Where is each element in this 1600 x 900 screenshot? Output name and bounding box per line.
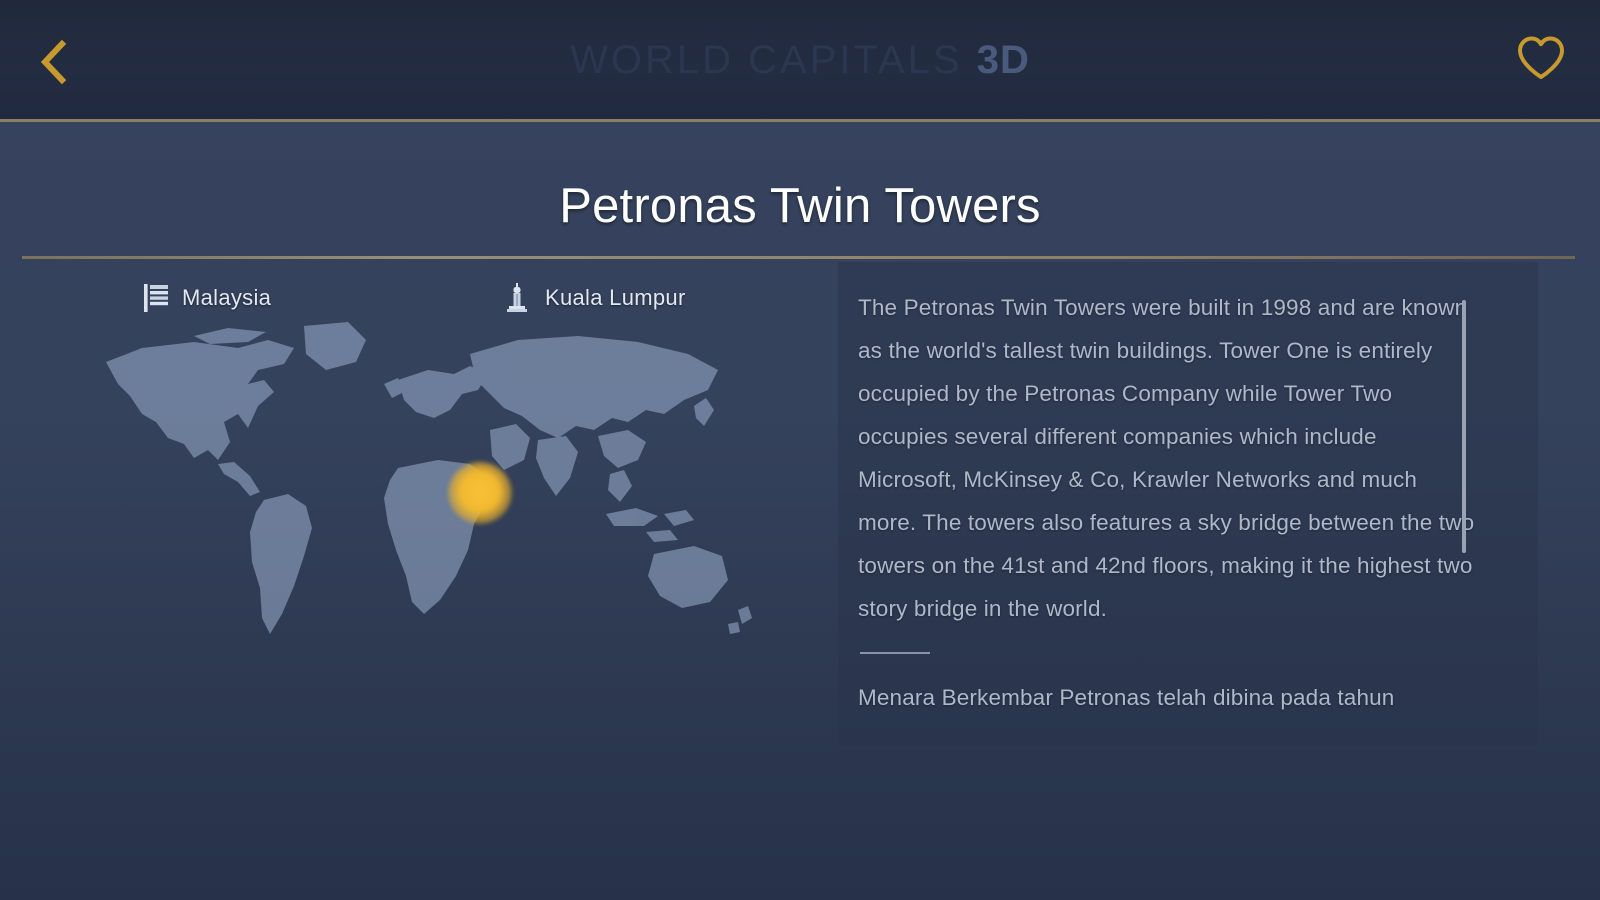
description-scroll-thumb[interactable] xyxy=(1462,300,1466,553)
city-meta: Kuala Lumpur xyxy=(505,282,686,314)
location-marker-dot[interactable] xyxy=(448,462,512,524)
description-scrollbar-track[interactable] xyxy=(1462,292,1466,732)
description-scroll-area[interactable]: The Petronas Twin Towers were built in 1… xyxy=(858,286,1478,726)
app-brand-name: WORLD CAPITALS xyxy=(570,38,977,82)
title-divider xyxy=(22,256,1575,259)
map-pane: Malaysia Kuala Lumpur xyxy=(0,262,820,782)
country-meta: Malaysia xyxy=(142,282,271,314)
world-map[interactable] xyxy=(98,318,758,678)
monument-icon xyxy=(505,282,533,314)
map-landmasses xyxy=(106,322,752,634)
description-english: The Petronas Twin Towers were built in 1… xyxy=(858,286,1478,630)
description-separator xyxy=(860,652,930,654)
city-label: Kuala Lumpur xyxy=(545,285,686,311)
heart-outline-icon xyxy=(1515,34,1567,87)
flag-icon xyxy=(142,282,170,314)
app-root: WORLD CAPITALS 3D Petronas Twin Towers xyxy=(0,0,1600,900)
app-brand-title: WORLD CAPITALS 3D xyxy=(0,38,1600,83)
country-label: Malaysia xyxy=(182,285,271,311)
app-header: WORLD CAPITALS 3D xyxy=(0,0,1600,122)
location-meta-row: Malaysia Kuala Lumpur xyxy=(0,276,820,320)
app-brand-3d: 3D xyxy=(977,38,1030,82)
favorite-button[interactable] xyxy=(1510,30,1572,90)
description-panel: The Petronas Twin Towers were built in 1… xyxy=(838,262,1538,745)
page-title: Petronas Twin Towers xyxy=(0,178,1600,234)
description-malay: Menara Berkembar Petronas telah dibina p… xyxy=(858,676,1478,719)
